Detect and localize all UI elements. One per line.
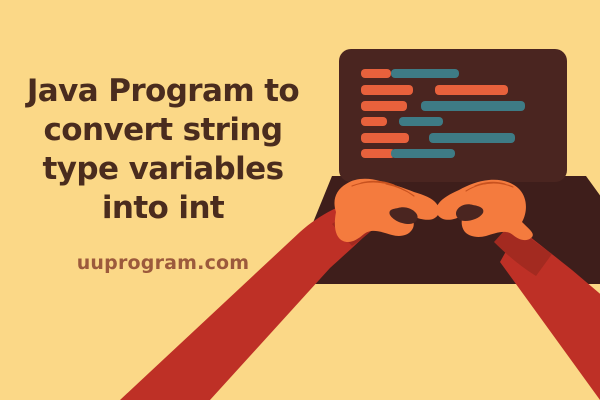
code-line-2-value	[435, 85, 508, 95]
code-line-5-value	[429, 133, 515, 143]
code-line-2-keyword	[361, 85, 413, 95]
code-line-5-keyword	[361, 133, 409, 143]
laptop-screen-bezel	[339, 49, 567, 182]
code-line-4-keyword	[361, 117, 387, 126]
page-title: Java Program to convert string type vari…	[0, 72, 326, 228]
poster-canvas: Java Program to convert string type vari…	[0, 0, 600, 400]
code-line-3-value	[421, 101, 525, 111]
code-line-1-value	[391, 69, 459, 78]
code-line-6-keyword	[361, 149, 395, 158]
code-line-1-keyword	[361, 69, 391, 78]
code-line-4-value	[399, 117, 443, 126]
site-url: uuprogram.com	[0, 228, 326, 274]
code-line-3-keyword	[361, 101, 407, 111]
text-block: Java Program to convert string type vari…	[0, 72, 326, 274]
code-line-6-value	[391, 149, 455, 158]
